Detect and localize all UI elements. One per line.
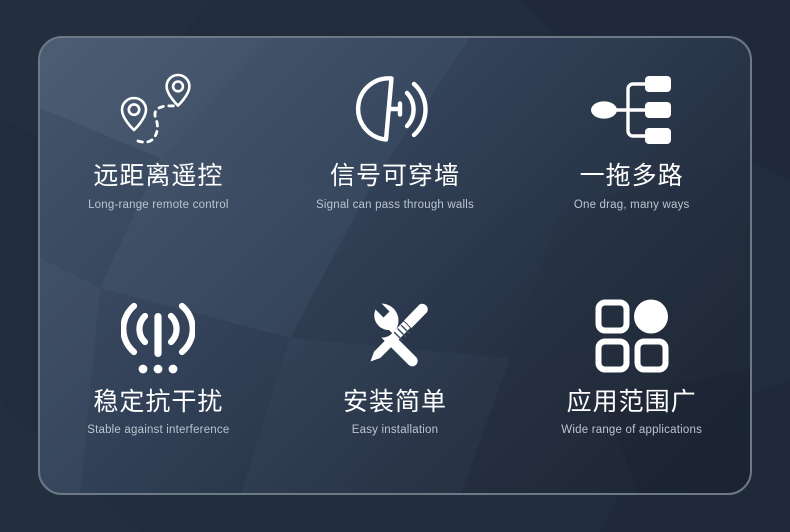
feature-title: 一拖多路 <box>580 162 684 191</box>
feature-subtitle: Stable against interference <box>87 424 229 438</box>
feature-subtitle: Easy installation <box>352 424 439 438</box>
feature-title: 应用范围广 <box>567 388 697 417</box>
features-grid: 远距离遥控 Long-range remote control <box>40 38 750 493</box>
feature-item-wide-range-of-applications[interactable]: 应用范围广 Wide range of applications <box>513 266 750 494</box>
feature-title: 稳定抗干扰 <box>93 388 223 417</box>
feature-item-stable-against-interference[interactable]: 稳定抗干扰 Stable against interference <box>40 266 277 494</box>
wrench-screwdriver-icon <box>356 290 434 382</box>
feature-title: 安装简单 <box>343 388 447 417</box>
feature-item-easy-installation[interactable]: 安装简单 Easy installation <box>277 266 514 494</box>
features-panel: 远距离遥控 Long-range remote control <box>38 36 752 495</box>
feature-title: 信号可穿墙 <box>330 162 460 191</box>
feature-title: 远距离遥控 <box>93 162 223 191</box>
feature-item-signal-can-pass-through-walls[interactable]: 信号可穿墙 Signal can pass through walls <box>277 38 514 266</box>
satellite-dish-signal-icon <box>355 64 435 156</box>
feature-subtitle: One drag, many ways <box>574 199 690 213</box>
app-grid-icon <box>595 290 669 382</box>
feature-item-one-drag-many-ways[interactable]: 一拖多路 One drag, many ways <box>513 38 750 266</box>
route-map-pins-icon <box>112 64 204 156</box>
feature-subtitle: Signal can pass through walls <box>316 199 474 213</box>
feature-subtitle: Wide range of applications <box>561 424 702 438</box>
one-to-many-split-icon <box>590 64 674 156</box>
antenna-broadcast-icon <box>121 290 195 382</box>
feature-banner: 远距离遥控 Long-range remote control <box>0 0 790 532</box>
feature-item-long-range-remote-control[interactable]: 远距离遥控 Long-range remote control <box>40 38 277 266</box>
feature-subtitle: Long-range remote control <box>88 199 229 213</box>
